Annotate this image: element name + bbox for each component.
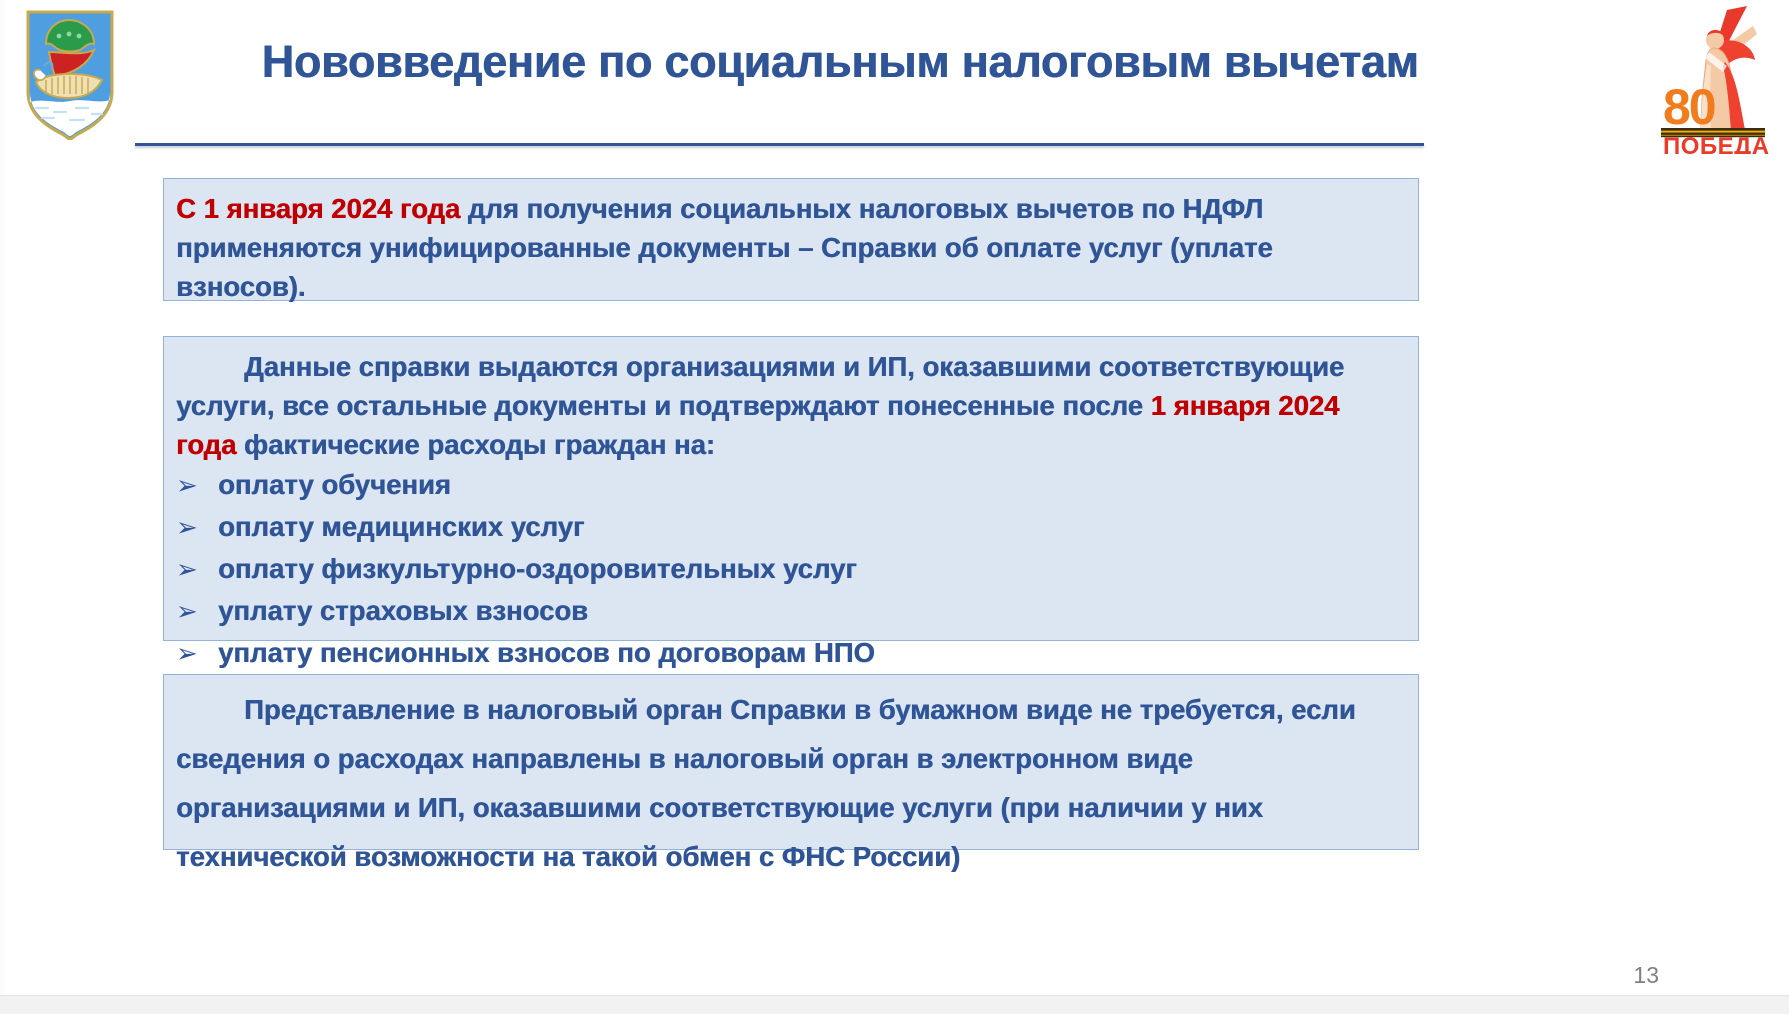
list-item: ➢ оплату обучения	[176, 464, 1402, 506]
title-divider	[135, 143, 1424, 146]
box2-lead-part2: фактические расходы граждан на:	[236, 429, 715, 460]
list-item: ➢ уплату страховых взносов	[176, 590, 1402, 632]
list-item: ➢ оплату физкультурно-оздоровительных ус…	[176, 548, 1402, 590]
page-title: Нововведение по социальным налоговым выч…	[150, 34, 1530, 90]
expense-types-list: ➢ оплату обучения ➢ оплату медицинских у…	[176, 464, 1402, 674]
box2-lead-paragraph: Данные справки выдаются организациями и …	[176, 347, 1402, 464]
arrow-bullet-icon: ➢	[176, 465, 218, 506]
arrow-bullet-icon: ➢	[176, 549, 218, 590]
list-item: ➢ оплату медицинских услуг	[176, 506, 1402, 548]
list-item-label: оплату медицинских услуг	[218, 506, 584, 547]
coat-of-arms-icon	[22, 8, 118, 140]
victory-80-logo: 80 ПОБЕДА!	[1655, 4, 1771, 154]
list-item-label: оплату физкультурно-оздоровительных услу…	[218, 548, 857, 589]
arrow-bullet-icon: ➢	[176, 507, 218, 548]
box1-paragraph: С 1 января 2024 года для получения социа…	[176, 189, 1402, 306]
list-item-label: уплату пенсионных взносов по договорам Н…	[218, 632, 875, 673]
info-box-electronic-submission: Представление в налоговый орган Справки …	[163, 674, 1419, 850]
list-item-label: уплату страховых взносов	[218, 590, 588, 631]
list-item: ➢ уплату пенсионных взносов по договорам…	[176, 632, 1402, 674]
victory-caption: ПОБЕДА!	[1663, 133, 1771, 154]
bottom-strip	[0, 995, 1789, 1014]
arrow-bullet-icon: ➢	[176, 591, 218, 632]
info-box-certificates: Данные справки выдаются организациями и …	[163, 336, 1419, 641]
box3-text: Представление в налоговый орган Справки …	[176, 694, 1356, 872]
anniversary-number: 80	[1663, 79, 1715, 135]
slide-canvas: Нововведение по социальным налоговым выч…	[0, 0, 1789, 1014]
page-number: 13	[1633, 962, 1659, 989]
arrow-bullet-icon: ➢	[176, 633, 218, 674]
info-box-effective-date: С 1 января 2024 года для получения социа…	[163, 178, 1419, 301]
box3-paragraph: Представление в налоговый орган Справки …	[176, 685, 1402, 881]
box1-highlight: С 1 января 2024 года	[176, 193, 460, 224]
left-edge-strip	[0, 0, 4, 996]
list-item-label: оплату обучения	[218, 464, 451, 505]
